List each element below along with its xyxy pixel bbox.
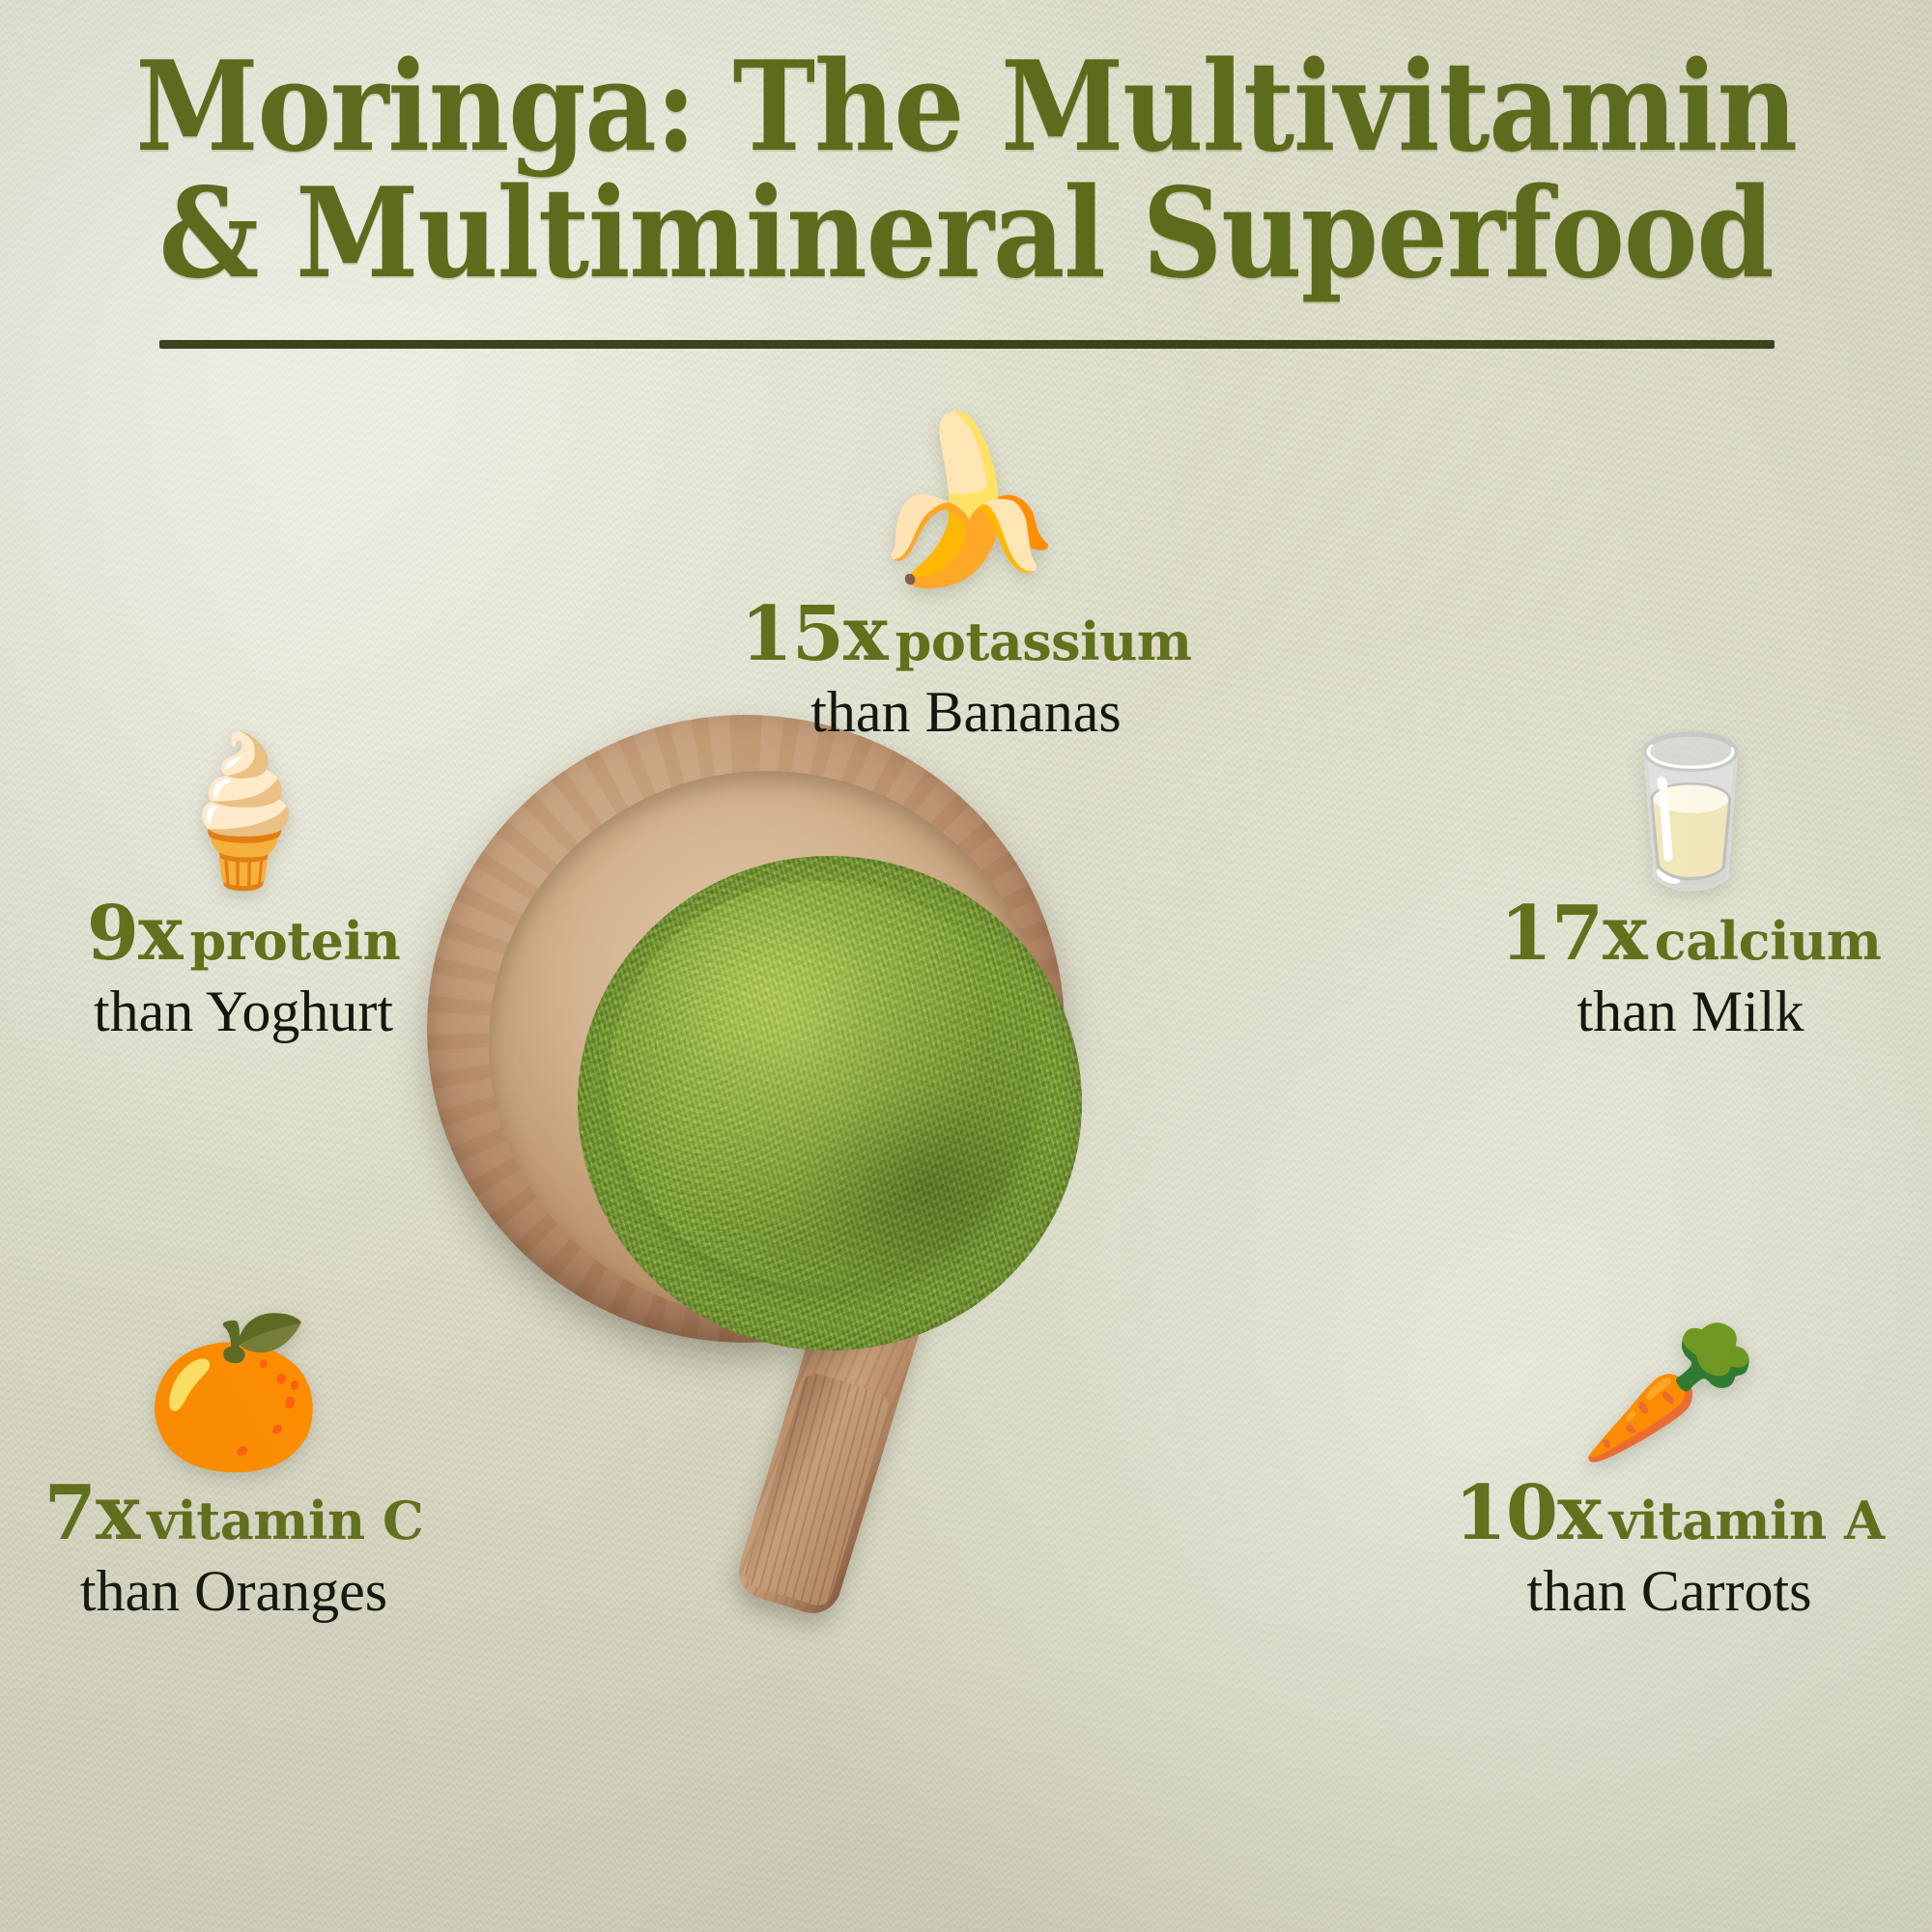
stat-calcium: 🥛 17xcalcium than Milk xyxy=(1420,740,1932,1046)
milk-glass-icon: 🥛 xyxy=(1420,740,1932,885)
stat-vitamin-a-nutrient: vitamin A xyxy=(1609,1490,1885,1551)
moringa-powder xyxy=(578,856,1082,1350)
title-line-1: Moringa: The Multivitamin xyxy=(97,44,1835,171)
carrot-icon: 🥕 xyxy=(1399,1321,1932,1466)
stat-potassium-headline: 15xpotassium xyxy=(696,597,1236,672)
yoghurt-bowl-icon: 🍦 xyxy=(0,740,514,885)
stat-calcium-comparison: than Milk xyxy=(1420,978,1932,1046)
stat-vitamin-c-comparison: than Oranges xyxy=(0,1557,504,1626)
stat-potassium-nutrient: potassium xyxy=(895,611,1192,672)
stat-protein-comparison: than Yoghurt xyxy=(0,978,514,1046)
stat-protein-headline: 9xprotein xyxy=(0,896,514,972)
stat-protein-nutrient: protein xyxy=(189,910,400,972)
stat-calcium-nutrient: calcium xyxy=(1655,910,1882,972)
stat-protein-multiplier: 9x xyxy=(87,890,183,978)
tangerine-icon: 🍊 xyxy=(0,1321,504,1466)
stat-protein: 🍦 9xprotein than Yoghurt xyxy=(0,740,514,1046)
stat-vitamin-a-comparison: than Carrots xyxy=(1399,1557,1932,1626)
stat-potassium-comparison: than Bananas xyxy=(696,678,1236,747)
bowl-inner-rim xyxy=(489,771,1045,1318)
stat-potassium: 🍌 15xpotassium than Bananas xyxy=(696,421,1236,747)
title-divider-rule xyxy=(159,340,1775,349)
title-line-2: & Multimineral Superfood xyxy=(97,171,1835,298)
bowl-outer-wood xyxy=(427,715,1065,1343)
stat-calcium-headline: 17xcalcium xyxy=(1420,896,1932,972)
infographic-poster: Moringa: The Multivitamin & Multimineral… xyxy=(0,0,1932,1932)
stat-vitamin-a-headline: 10xvitamin A xyxy=(1399,1476,1932,1551)
stat-calcium-multiplier: 17x xyxy=(1500,890,1647,978)
stat-vitamin-c: 🍊 7xvitamin C than Oranges xyxy=(0,1321,504,1626)
page-title: Moringa: The Multivitamin & Multimineral… xyxy=(0,44,1932,297)
stat-potassium-multiplier: 15x xyxy=(741,590,888,678)
stat-vitamin-c-nutrient: vitamin C xyxy=(147,1490,423,1551)
stat-vitamin-a-multiplier: 10x xyxy=(1455,1469,1602,1557)
stat-vitamin-c-headline: 7xvitamin C xyxy=(0,1476,504,1551)
banana-icon: 🍌 xyxy=(696,421,1236,583)
stat-vitamin-a: 🥕 10xvitamin A than Carrots xyxy=(1399,1321,1932,1626)
stat-vitamin-c-multiplier: 7x xyxy=(44,1469,140,1557)
